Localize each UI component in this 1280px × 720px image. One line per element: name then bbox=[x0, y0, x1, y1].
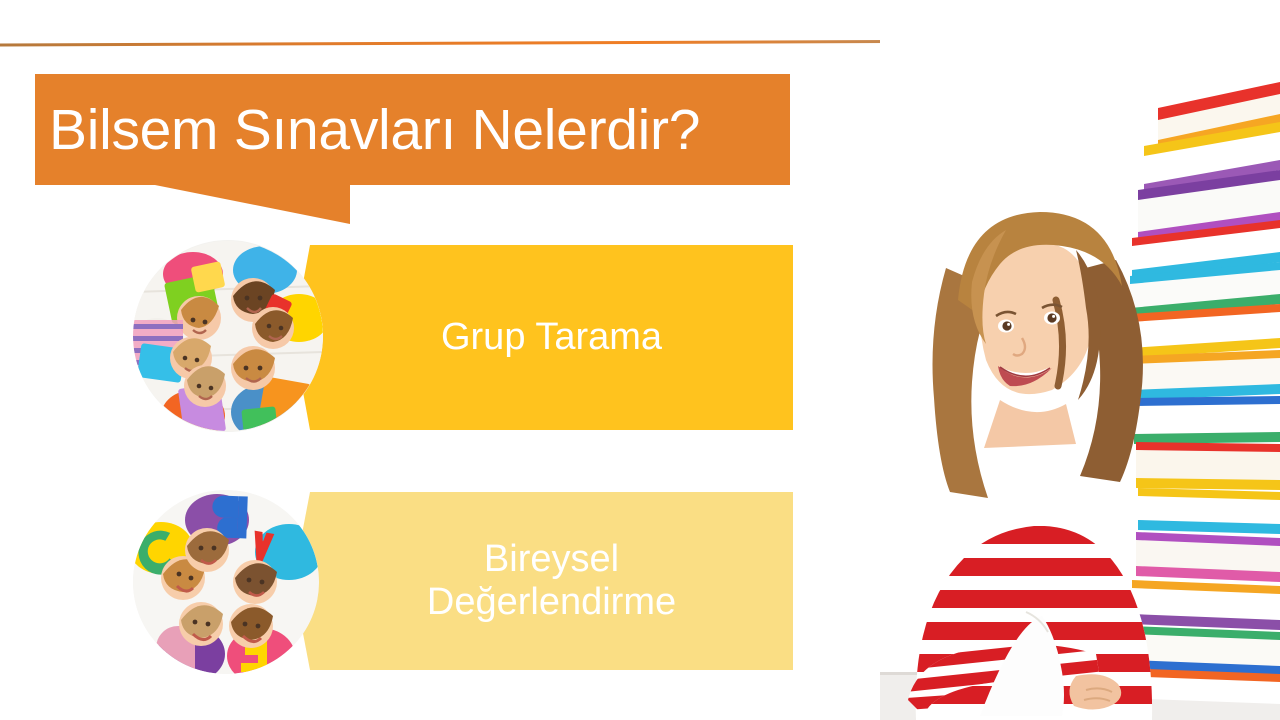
children-circle-with-letters-photo bbox=[133, 490, 319, 674]
item-label-line-1: Bireysel bbox=[484, 538, 619, 581]
title-speech-bubble: Bilsem Sınavları Nelerdir? bbox=[35, 74, 790, 224]
item-row-bireysel-degerlendirme[interactable]: Bireysel Değerlendirme bbox=[133, 490, 793, 675]
slide-canvas: Bilsem Sınavları Nelerdir? Grup Tarama bbox=[0, 0, 1280, 720]
item-label-grup-tarama: Grup Tarama bbox=[310, 245, 793, 430]
item-label-bireysel-degerlendirme: Bireysel Değerlendirme bbox=[310, 492, 793, 670]
girl-with-books-photo bbox=[880, 0, 1280, 720]
item-row-grup-tarama[interactable]: Grup Tarama bbox=[133, 240, 793, 435]
item-label-line-2: Değerlendirme bbox=[427, 581, 676, 624]
page-title: Bilsem Sınavları Nelerdir? bbox=[49, 74, 790, 185]
children-circle-with-books-photo bbox=[133, 240, 323, 432]
item-panel-bireysel-degerlendirme[interactable]: Bireysel Değerlendirme bbox=[293, 492, 793, 670]
item-panel-grup-tarama[interactable]: Grup Tarama bbox=[293, 245, 793, 430]
